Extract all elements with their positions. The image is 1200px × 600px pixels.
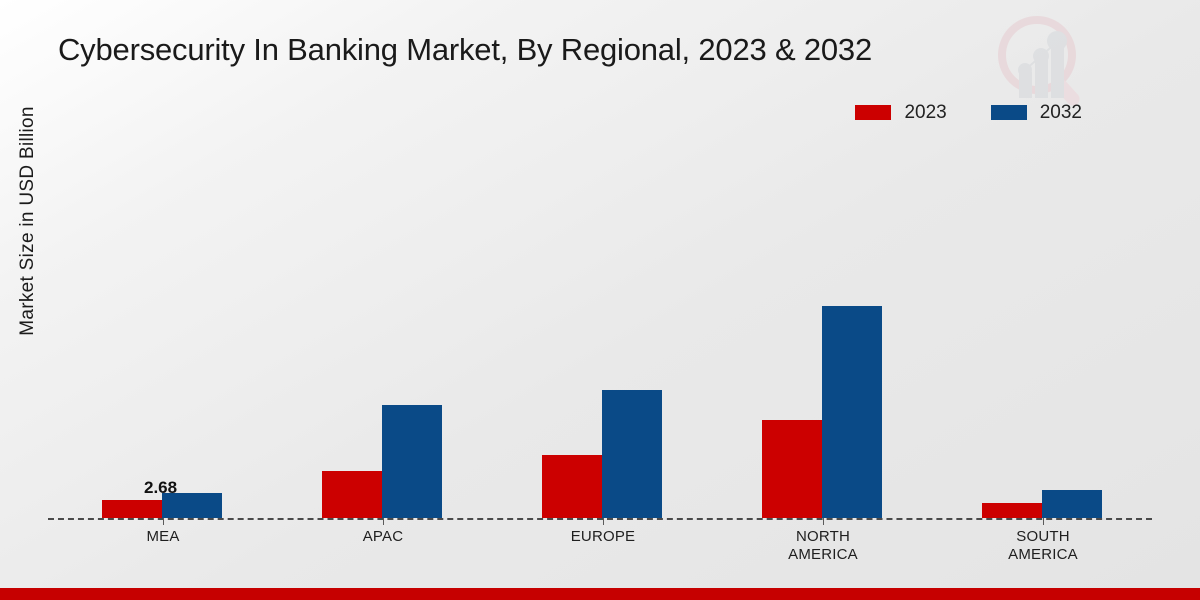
tick-europe [603,518,604,525]
legend-swatch-2032 [991,105,1027,120]
y-axis-title: Market Size in USD Billion [17,56,39,386]
bar-apac-2023[interactable] [322,471,382,518]
legend-swatch-2023 [855,105,891,120]
bar-group-apac: APAC [302,130,466,518]
legend-label-2032: 2032 [1040,103,1082,122]
tick-south-america [1043,518,1044,525]
bar-group-europe: EUROPE [522,130,686,518]
bars-europe [542,130,662,518]
category-label-apac: APAC [333,528,433,546]
bar-mea-2023[interactable] [102,500,162,518]
bar-south-america-2023[interactable] [982,503,1042,518]
category-label-south-america: SOUTH AMERICA [993,528,1093,563]
chart-title: Cybersecurity In Banking Market, By Regi… [58,32,872,68]
legend-label-2023: 2023 [904,103,946,122]
category-label-north-america: NORTH AMERICA [773,528,873,563]
bar-north-america-2023[interactable] [762,420,822,518]
legend-item-2032[interactable]: 2032 [991,103,1082,122]
watermark-logo-icon [988,8,1096,116]
bars-apac [322,130,442,518]
tick-apac [383,518,384,525]
bar-group-south-america: SOUTH AMERICA [962,130,1126,518]
x-axis-baseline [48,518,1152,520]
bar-north-america-2032[interactable] [822,306,882,518]
bar-europe-2032[interactable] [602,390,662,518]
tick-north-america [823,518,824,525]
bar-south-america-2032[interactable] [1042,490,1102,518]
bar-group-mea: 2.68 MEA [82,130,246,518]
plot-area: 2.68 MEA APAC EUROPE [48,130,1152,518]
bars-south-america [982,130,1102,518]
bar-group-north-america: NORTH AMERICA [742,130,906,518]
bar-apac-2032[interactable] [382,405,442,518]
legend-item-2023[interactable]: 2023 [855,103,946,122]
value-label-mea-2023: 2.68 [144,478,177,498]
bars-north-america [762,130,882,518]
category-label-europe: EUROPE [553,528,653,546]
footer-strip [0,588,1200,600]
bars-mea [102,130,222,518]
chart-canvas: Cybersecurity In Banking Market, By Regi… [0,0,1200,600]
category-label-mea: MEA [113,528,213,546]
chart-legend: 2023 2032 [855,103,1082,122]
tick-mea [163,518,164,525]
bar-europe-2023[interactable] [542,455,602,518]
